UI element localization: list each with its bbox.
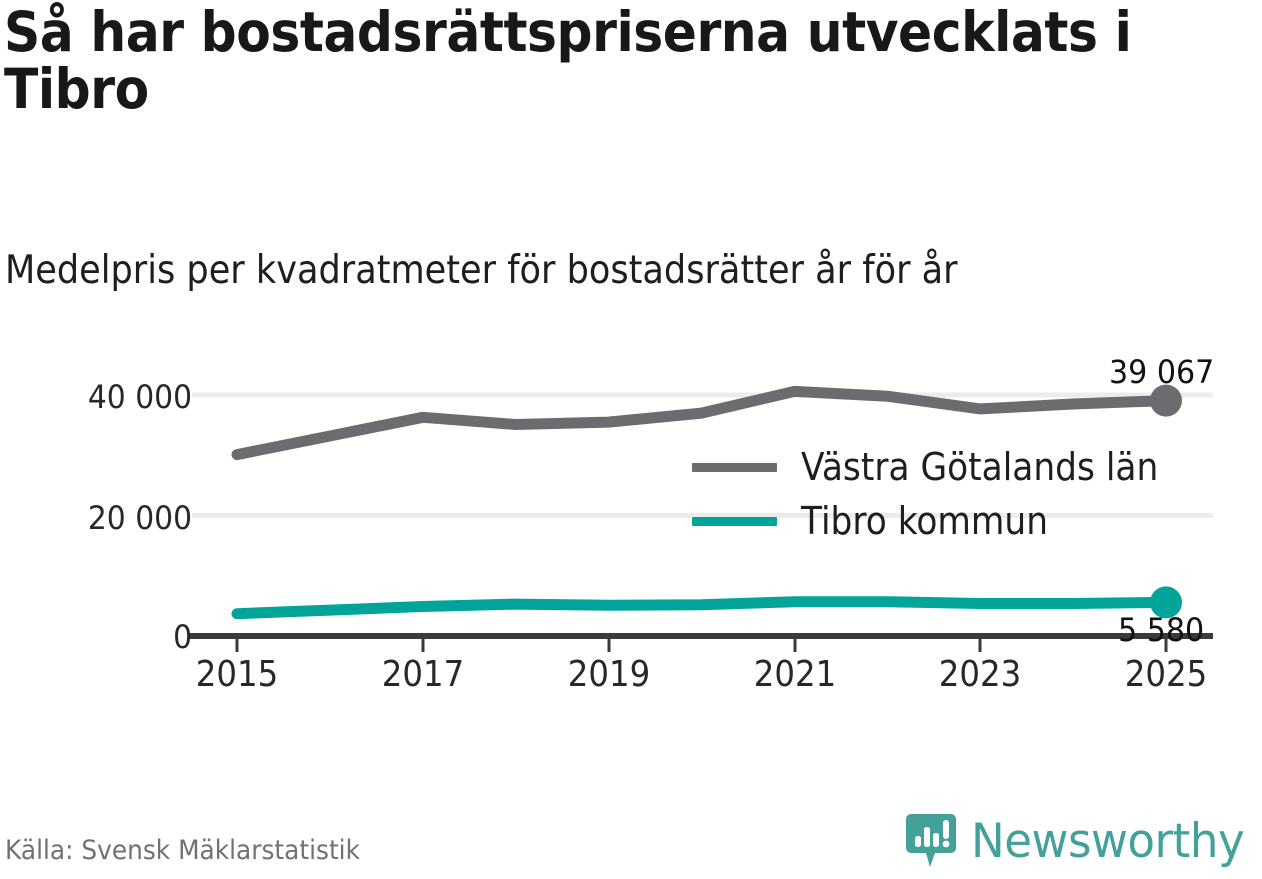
legend-label: Tibro kommun bbox=[801, 499, 1048, 543]
legend-swatch-icon bbox=[692, 463, 777, 472]
value-label-tibro-kommun: 5 580 bbox=[1118, 611, 1204, 649]
x-tick-label-2023: 2023 bbox=[908, 654, 1052, 695]
series-line-tibro-kommun bbox=[237, 602, 1166, 614]
source-note: Källa: Svensk Mäklarstatistik bbox=[5, 835, 360, 866]
value-label-vastra-gotalands-lan: 39 067 bbox=[1109, 353, 1214, 391]
x-tick-label-2015: 2015 bbox=[165, 654, 309, 695]
legend-label: Västra Götalands län bbox=[801, 445, 1158, 489]
legend-swatch-icon bbox=[692, 517, 777, 526]
legend-item-tibro-kommun[interactable]: Tibro kommun bbox=[692, 494, 1196, 548]
chart-page: Så har bostadsrättspriserna utvecklats i… bbox=[0, 0, 1262, 879]
newsworthy-bars-bubble-icon bbox=[905, 812, 957, 870]
x-tick-label-2021: 2021 bbox=[723, 654, 867, 695]
x-tick-label-2025: 2025 bbox=[1094, 654, 1238, 695]
x-tick-label-2019: 2019 bbox=[537, 654, 681, 695]
y-tick-label: 0 bbox=[25, 618, 192, 656]
y-tick-label: 20 000 bbox=[25, 499, 192, 537]
x-tick-label-2017: 2017 bbox=[351, 654, 495, 695]
legend-item-vastra-gotalands-lan[interactable]: Västra Götalands län bbox=[692, 440, 1196, 494]
y-tick-label: 40 000 bbox=[25, 378, 192, 416]
brand-name: Newsworthy bbox=[971, 814, 1244, 869]
chart-legend: Västra Götalands län Tibro kommun bbox=[692, 440, 1196, 548]
brand-logo: Newsworthy bbox=[905, 812, 1256, 870]
